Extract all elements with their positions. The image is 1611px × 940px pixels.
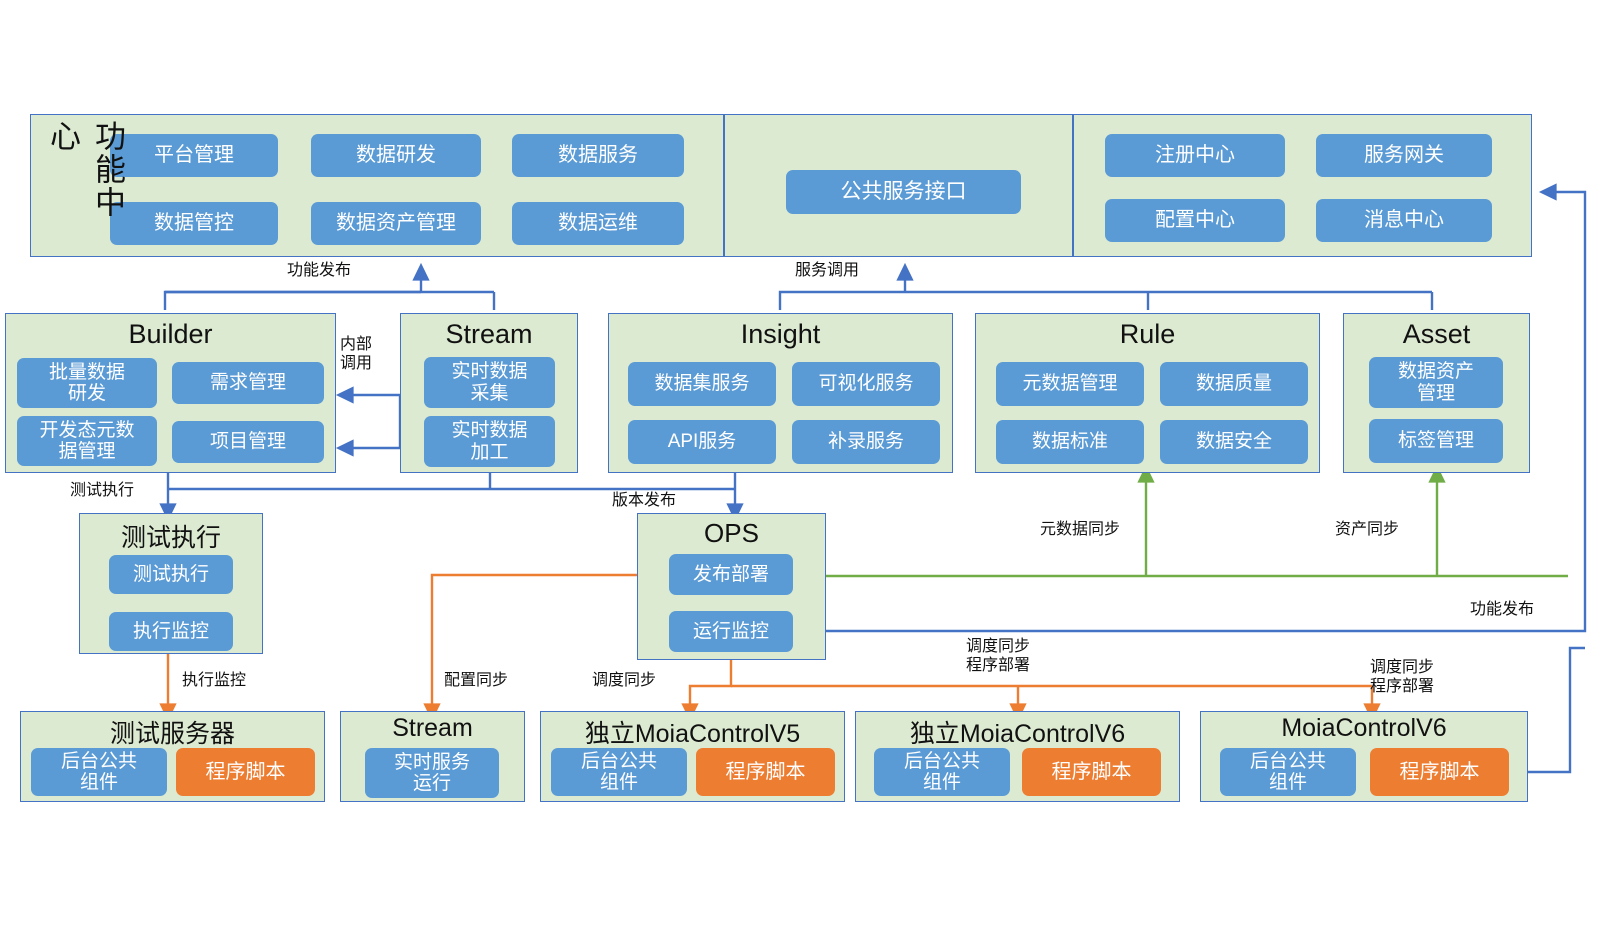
label-asset-sync: 资产同步 bbox=[1335, 521, 1399, 540]
chip-data-quality[interactable]: 数据质量 bbox=[1160, 362, 1308, 406]
chip-data-governance[interactable]: 数据管控 bbox=[110, 202, 278, 245]
chip-backend-common-component-2[interactable]: 后台公共 组件 bbox=[551, 748, 687, 796]
label-feature-publish-right: 功能发布 bbox=[1470, 601, 1534, 620]
chip-backend-common-component-3[interactable]: 后台公共 组件 bbox=[874, 748, 1010, 796]
function-center-divider-2 bbox=[1072, 114, 1074, 257]
module-asset-title: Asset bbox=[1344, 319, 1529, 350]
chip-release-deploy[interactable]: 发布部署 bbox=[669, 554, 793, 595]
function-center-title: 功能中心 bbox=[40, 120, 130, 250]
module-builder-title: Builder bbox=[6, 319, 335, 350]
chip-execution-monitor[interactable]: 执行监控 bbox=[109, 612, 233, 651]
chip-api-service[interactable]: API服务 bbox=[628, 420, 776, 464]
label-config-sync: 配置同步 bbox=[444, 672, 508, 691]
server-stream-title: Stream bbox=[341, 714, 524, 743]
label-metadata-sync: 元数据同步 bbox=[1040, 521, 1120, 540]
chip-data-standard[interactable]: 数据标准 bbox=[996, 420, 1144, 464]
chip-backend-common-component-1[interactable]: 后台公共 组件 bbox=[31, 748, 167, 796]
chip-data-development[interactable]: 数据研发 bbox=[311, 134, 481, 177]
chip-dev-metadata-management[interactable]: 开发态元数 据管理 bbox=[17, 416, 157, 466]
chip-project-management[interactable]: 项目管理 bbox=[172, 421, 324, 463]
label-internal-call: 内部 调用 bbox=[340, 336, 372, 374]
label-exec-monitor: 执行监控 bbox=[182, 672, 246, 691]
label-feature-publish-top: 功能发布 bbox=[287, 262, 351, 281]
chip-dataset-service[interactable]: 数据集服务 bbox=[628, 362, 776, 406]
chip-public-service-interface[interactable]: 公共服务接口 bbox=[786, 170, 1021, 214]
block-test-execution-title: 测试执行 bbox=[80, 518, 262, 554]
server-moiacontrolv6-title: MoiaControlV6 bbox=[1201, 714, 1527, 743]
block-ops-title: OPS bbox=[638, 518, 825, 549]
chip-backend-common-component-4[interactable]: 后台公共 组件 bbox=[1220, 748, 1356, 796]
chip-realtime-data-processing[interactable]: 实时数据 加工 bbox=[424, 416, 555, 467]
chip-program-script-4[interactable]: 程序脚本 bbox=[1370, 748, 1509, 796]
server-test-server-title: 测试服务器 bbox=[21, 714, 324, 750]
chip-batch-data-development[interactable]: 批量数据 研发 bbox=[17, 358, 157, 408]
chip-visualization-service[interactable]: 可视化服务 bbox=[792, 362, 940, 406]
chip-data-asset-mgmt[interactable]: 数据资产 管理 bbox=[1369, 357, 1503, 408]
chip-message-center[interactable]: 消息中心 bbox=[1316, 199, 1492, 242]
green-wires bbox=[826, 474, 1568, 576]
module-rule-title: Rule bbox=[976, 319, 1319, 350]
label-version-publish: 版本发布 bbox=[612, 492, 676, 511]
server-standalone-moiacontrolv5-title: 独立MoiaControlV5 bbox=[541, 714, 844, 750]
label-test-execute: 测试执行 bbox=[70, 482, 134, 501]
server-standalone-moiacontrolv6-title: 独立MoiaControlV6 bbox=[856, 714, 1179, 750]
chip-config-center[interactable]: 配置中心 bbox=[1105, 199, 1285, 242]
chip-tag-management[interactable]: 标签管理 bbox=[1369, 419, 1503, 463]
chip-metadata-management[interactable]: 元数据管理 bbox=[996, 362, 1144, 406]
module-insight-title: Insight bbox=[609, 319, 952, 350]
chip-program-script-3[interactable]: 程序脚本 bbox=[1022, 748, 1161, 796]
label-schedule-deploy-mid: 调度同步 程序部署 bbox=[966, 638, 1030, 676]
architecture-diagram: 功能中心 平台管理 数据研发 数据服务 数据管控 数据资产管理 数据运维 公共服… bbox=[0, 0, 1611, 940]
chip-data-service[interactable]: 数据服务 bbox=[512, 134, 684, 177]
label-schedule-deploy-right: 调度同步 程序部署 bbox=[1370, 659, 1434, 697]
chip-program-script-2[interactable]: 程序脚本 bbox=[696, 748, 835, 796]
module-stream-title: Stream bbox=[401, 319, 577, 350]
chip-data-operations[interactable]: 数据运维 bbox=[512, 202, 684, 245]
chip-supplement-service[interactable]: 补录服务 bbox=[792, 420, 940, 464]
chip-platform-management[interactable]: 平台管理 bbox=[110, 134, 278, 177]
chip-data-asset-management[interactable]: 数据资产管理 bbox=[311, 202, 481, 245]
chip-registry-center[interactable]: 注册中心 bbox=[1105, 134, 1285, 177]
chip-realtime-data-collection[interactable]: 实时数据 采集 bbox=[424, 357, 555, 408]
label-schedule-sync: 调度同步 bbox=[592, 672, 656, 691]
function-center-divider-1 bbox=[723, 114, 725, 257]
chip-requirement-management[interactable]: 需求管理 bbox=[172, 362, 324, 404]
chip-data-security[interactable]: 数据安全 bbox=[1160, 420, 1308, 464]
chip-program-script-1[interactable]: 程序脚本 bbox=[176, 748, 315, 796]
chip-realtime-service-running[interactable]: 实时服务 运行 bbox=[365, 748, 499, 798]
chip-test-execution[interactable]: 测试执行 bbox=[109, 555, 233, 594]
label-service-call: 服务调用 bbox=[795, 262, 859, 281]
chip-service-gateway[interactable]: 服务网关 bbox=[1316, 134, 1492, 177]
chip-runtime-monitor[interactable]: 运行监控 bbox=[669, 611, 793, 652]
